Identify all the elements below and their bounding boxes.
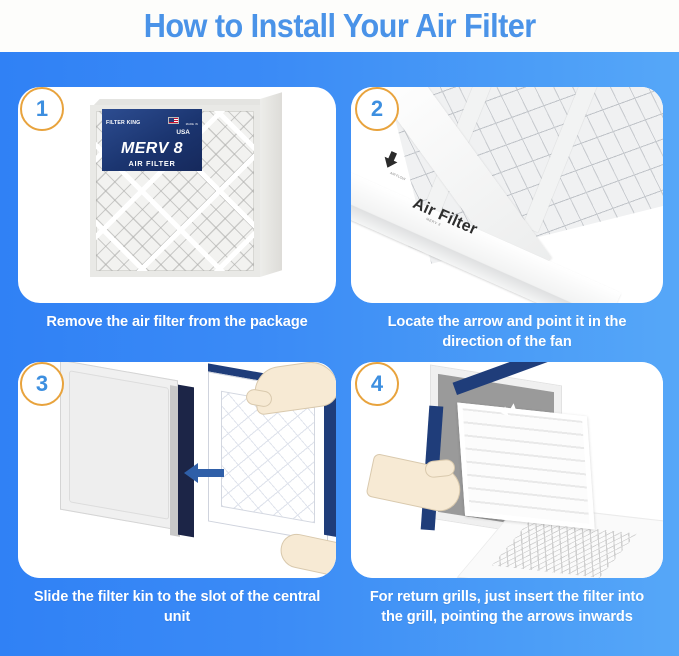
usa-flag-icon [168,117,179,124]
step-caption-3: Slide the filter kin to the slot of the … [24,587,329,627]
ceiling-vent-mesh [492,521,637,577]
step-card-4: 4 [351,362,663,640]
step-caption-1: Remove the air filter from the package [24,312,329,332]
step-number-4: 4 [371,373,383,395]
slide-filter-illustration [18,362,336,578]
step-number-2: 2 [371,98,383,120]
step-number-badge-1: 1 [20,87,64,131]
step-number-badge-2: 2 [355,87,399,131]
step-caption-4: For return grills, just insert the filte… [357,587,657,627]
step-card-3: 3 [18,362,336,627]
product-type: AIR FILTER [102,159,202,168]
step-number-badge-4: 4 [355,362,399,406]
central-unit-slot [178,385,194,538]
merv-rating: MERV 8 [102,141,202,157]
page-title: How to Install Your Air Filter [144,7,536,45]
step-card-1: 1 FILTER KING MADE IN [18,87,336,352]
return-grill-door [457,403,594,530]
air-filter-corner-photo: AIR FLOW Air Filter MERV 8 [351,87,663,303]
step-2-image-card: 2 AIR FLOW Air Filter [351,87,663,303]
infographic-page: How to Install Your Air Filter 1 [0,0,679,656]
step-1-image-card: 1 FILTER KING MADE IN [18,87,336,303]
return-grill-illustration [351,362,663,578]
filter-side-edge [260,92,282,277]
central-unit-body [60,362,178,530]
direction-arrow-icon [184,462,224,489]
step-caption-2: Locate the arrow and point it in the dir… [357,312,657,352]
made-in-usa-block: MADE IN USA [168,112,198,136]
central-unit-panel [69,370,169,520]
country-text: USA [168,130,198,136]
steps-grid: 1 FILTER KING MADE IN [0,52,679,656]
step-card-2: 2 AIR FLOW Air Filter [351,87,663,352]
step-4-image-card: 4 [351,362,663,578]
header-band: How to Install Your Air Filter [0,0,679,52]
label-top-row: FILTER KING MADE IN USA [102,109,202,136]
brand-name: FILTER KING [106,121,140,126]
step-number-3: 3 [36,373,48,395]
air-filter-product-photo: FILTER KING MADE IN USA MERV 8 AIR FILTE… [18,87,336,303]
product-label: FILTER KING MADE IN USA MERV 8 AIR FILTE… [102,109,202,171]
step-3-image-card: 3 [18,362,336,578]
step-number-badge-3: 3 [20,362,64,406]
filter-right-frame [324,385,336,537]
made-in-text: MADE IN [186,123,198,126]
step-number-1: 1 [36,98,48,120]
airflow-label: AIR FLOW [389,171,406,181]
label-bottom-row: FILTERKING.COM APR 650 [102,168,202,171]
